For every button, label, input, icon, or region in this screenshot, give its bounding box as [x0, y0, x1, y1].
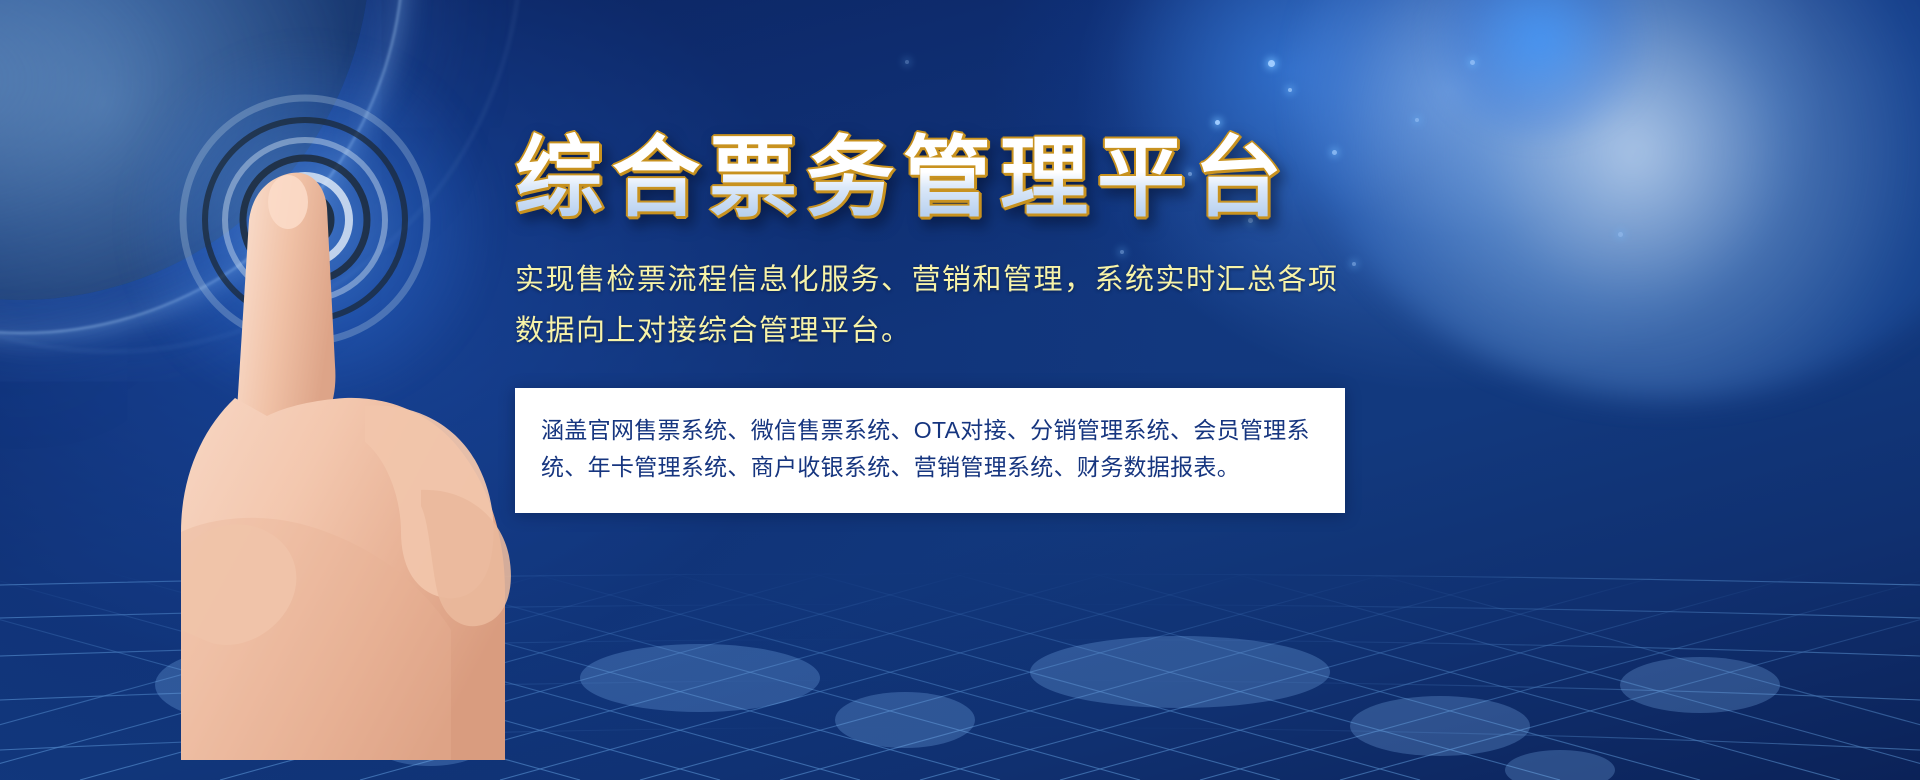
page-title: 综合票务管理平台 — [515, 132, 1355, 227]
pointing-hand-icon — [175, 160, 555, 780]
feature-info-box: 涵盖官网售票系统、微信售票系统、OTA对接、分销管理系统、会员管理系统、年卡管理… — [515, 388, 1345, 513]
banner-subtitle: 实现售检票流程信息化服务、营销和管理，系统实时汇总各项数据向上对接综合管理平台。 — [515, 255, 1355, 357]
banner-text-block: 综合票务管理平台 实现售检票流程信息化服务、营销和管理，系统实时汇总各项数据向上… — [515, 132, 1355, 357]
feature-info-text: 涵盖官网售票系统、微信售票系统、OTA对接、分销管理系统、会员管理系统、年卡管理… — [541, 412, 1319, 487]
hero-banner: 综合票务管理平台 实现售检票流程信息化服务、营销和管理，系统实时汇总各项数据向上… — [0, 0, 1920, 780]
